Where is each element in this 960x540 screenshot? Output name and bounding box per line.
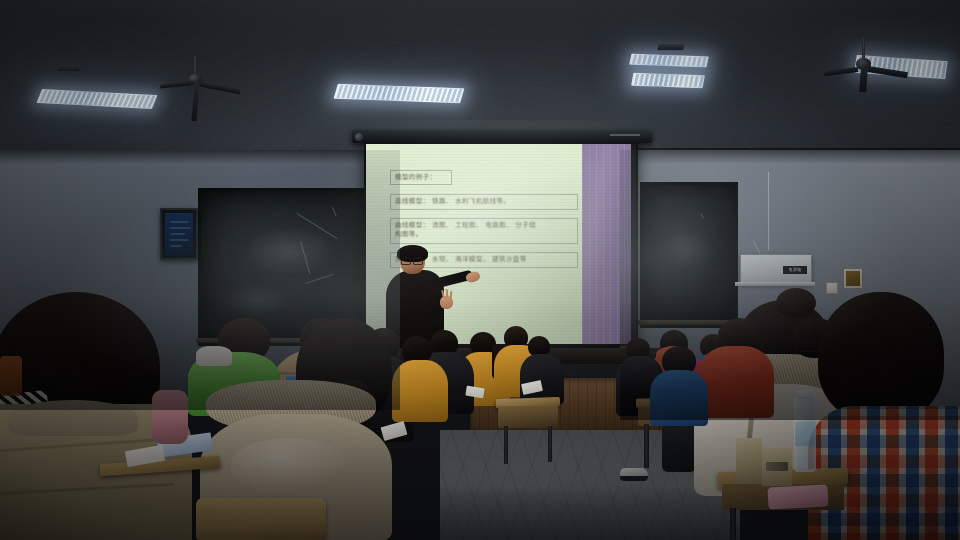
desk-leg bbox=[730, 508, 736, 540]
coat-sheen bbox=[230, 438, 350, 494]
slide-line-box-2: 曲线模型： 流图、 工程图、 电路图、 分子结 构图等。 bbox=[390, 218, 578, 244]
fan-blade-icon bbox=[191, 83, 199, 121]
milk-carton bbox=[736, 438, 762, 484]
fan-blade-icon bbox=[197, 81, 241, 94]
fluorescent-panel-right bbox=[631, 73, 705, 89]
housing-knob bbox=[355, 133, 363, 141]
desk-leg bbox=[504, 426, 508, 464]
teacher-finger bbox=[446, 289, 449, 298]
housing-stripe bbox=[610, 134, 640, 136]
student-mustard-coat-3 bbox=[392, 360, 448, 422]
desk-front bbox=[498, 406, 558, 428]
fan-blade-icon bbox=[868, 66, 908, 78]
ceiling-fan-left bbox=[176, 56, 250, 118]
slide-line-2-text: 曲线模型： 流图、 工程图、 电路图、 分子结 构图等。 bbox=[395, 221, 536, 239]
teacher-finger bbox=[441, 290, 445, 298]
ceiling-vent-left bbox=[57, 66, 81, 71]
fan-rod-icon bbox=[862, 38, 865, 60]
slide-line-box-1: 直线模型： 铁路、 水利飞机航线等。 bbox=[390, 194, 578, 210]
classroom-photo: 电源箱 模型的例子： 直线模型： 铁路、 水利飞机航线等。 曲线模型： 流图、 … bbox=[0, 0, 960, 540]
left-wall-shading bbox=[0, 150, 400, 410]
chair-back bbox=[196, 498, 326, 540]
glasses-icon bbox=[401, 257, 423, 263]
fan-blade-icon bbox=[859, 68, 868, 92]
desk-leg bbox=[644, 424, 649, 468]
shoe-sole bbox=[620, 476, 648, 481]
ceiling-fan-right bbox=[838, 38, 928, 96]
slide-line-1-text: 直线模型： 铁路、 水利飞机航线等。 bbox=[395, 197, 510, 206]
slide-title-text: 模型的例子： bbox=[395, 173, 436, 182]
fan-rod-icon bbox=[194, 56, 196, 76]
water-bottle-label bbox=[795, 422, 816, 446]
ceiling-vent bbox=[657, 44, 684, 50]
desk-leg bbox=[548, 426, 552, 462]
carton-label bbox=[766, 462, 788, 471]
pencil-case bbox=[767, 484, 828, 509]
right-wall-shading bbox=[620, 150, 960, 420]
